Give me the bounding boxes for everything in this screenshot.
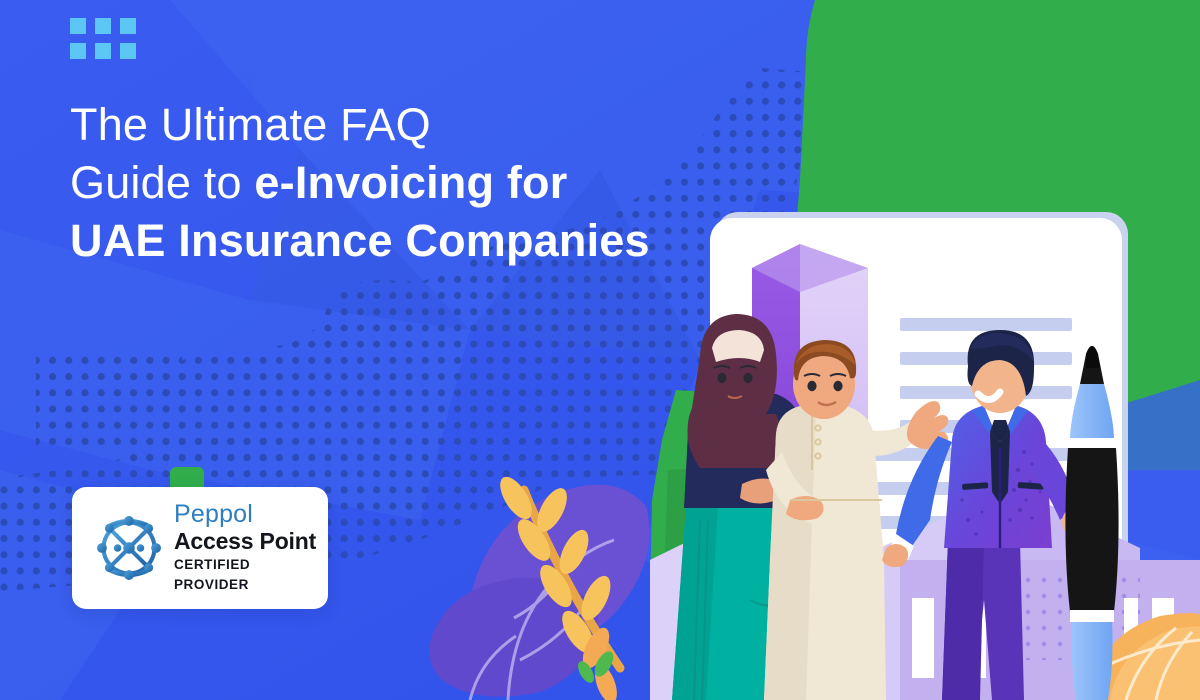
dot-grid-cell [95, 18, 111, 34]
peppol-certified-badge: Peppol Access Point CERTIFIED PROVIDER [72, 487, 328, 609]
headline-line-3: UAE Insurance Companies [70, 212, 710, 270]
headline-line-1: The Ultimate FAQ [70, 96, 710, 154]
dot-grid-cell [70, 18, 86, 34]
dot-grid-cell [120, 43, 136, 59]
dot-grid-logo [70, 18, 136, 59]
headline-line-2-regular: Guide to [70, 157, 254, 208]
dot-grid-cell [95, 43, 111, 59]
dot-grid-cell [120, 18, 136, 34]
dot-grid-cell [70, 43, 86, 59]
peppol-title: Peppol [174, 501, 328, 528]
peppol-network-globe-icon [88, 507, 170, 589]
headline-line-2: Guide to e-Invoicing for [70, 154, 710, 212]
peppol-subtitle: Access Point [174, 528, 328, 555]
peppol-certification-note: CERTIFIED PROVIDER [174, 555, 328, 595]
headline-line-2-bold: e-Invoicing for [254, 157, 567, 208]
page-title: The Ultimate FAQ Guide to e-Invoicing fo… [70, 96, 710, 270]
banner: The Ultimate FAQ Guide to e-Invoicing fo… [0, 0, 1200, 700]
peppol-badge-text: Peppol Access Point CERTIFIED PROVIDER [174, 501, 328, 595]
